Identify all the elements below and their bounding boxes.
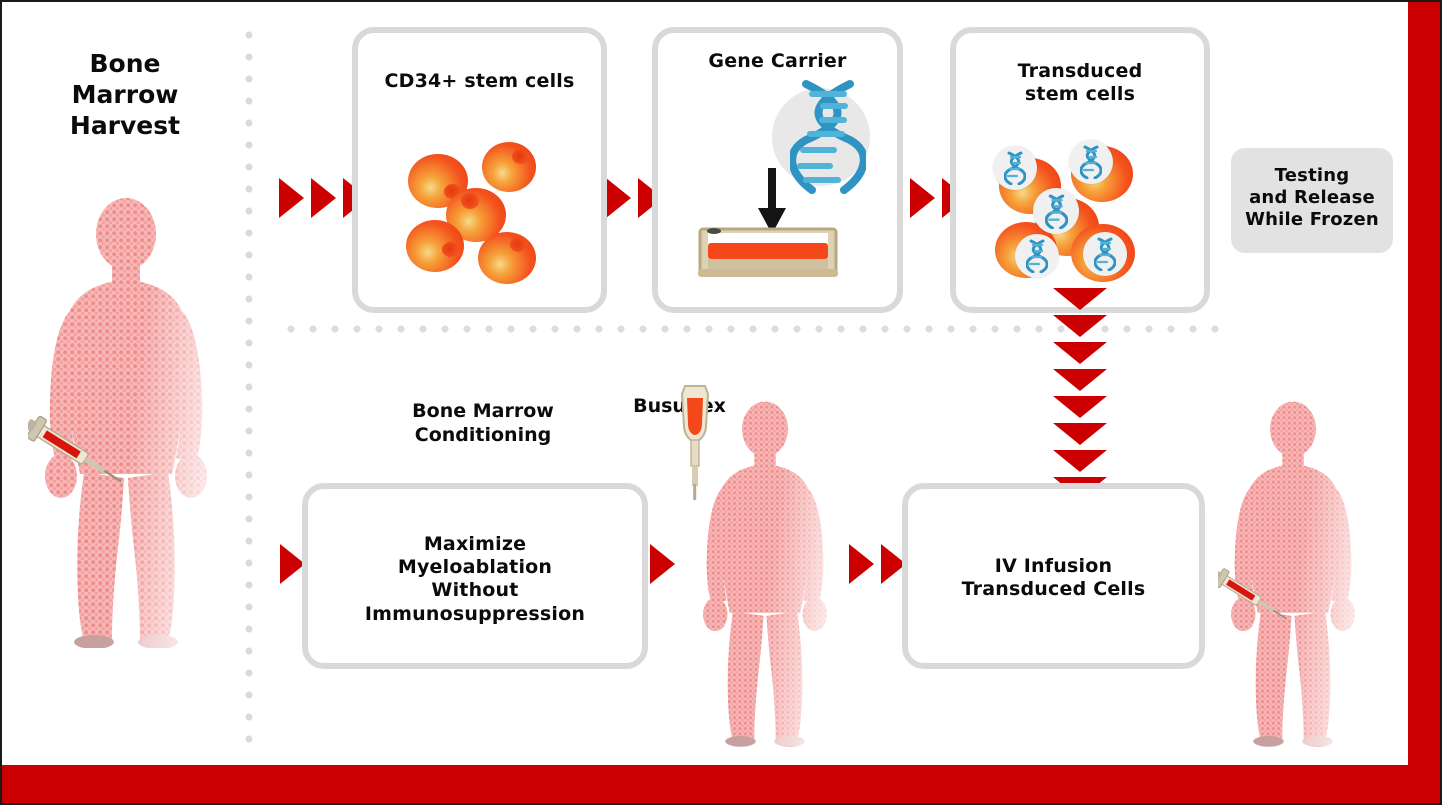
- chevron-down-icon: [1053, 369, 1107, 391]
- stem-cell-cluster-icon: [398, 140, 558, 285]
- dna-mini-icon: [1004, 151, 1026, 185]
- vertical-dotted-divider: [244, 30, 254, 752]
- chevron-down-icon: [1053, 342, 1107, 364]
- chevron-right-icon: [849, 544, 874, 584]
- chevron-down-icon: [1053, 396, 1107, 418]
- vertical-arrow-connector: [1053, 288, 1107, 504]
- chevron-right-icon: [311, 178, 336, 218]
- dna-helix-icon: [790, 78, 866, 200]
- chevron-right-icon: [910, 178, 935, 218]
- frame-accent-bottom: [2, 765, 1440, 803]
- chevron-right-icon: [279, 178, 304, 218]
- culture-dish-icon: [698, 227, 838, 285]
- chevron-right-icon: [650, 544, 675, 584]
- transduced-cell-cluster-icon: [993, 140, 1149, 288]
- frame-accent-right: [1408, 2, 1440, 803]
- box-testing-and-release-label: Testing and Release While Frozen: [1231, 165, 1393, 231]
- box-gene-carrier-label: Gene Carrier: [652, 50, 903, 73]
- patient-harvest-figure: [28, 196, 224, 648]
- dna-mini-icon: [1045, 194, 1068, 229]
- box-cd34-label: CD34+ stem cells: [352, 70, 607, 93]
- dna-mini-icon: [1094, 237, 1116, 271]
- chevron-down-icon: [1053, 288, 1107, 310]
- chevron-down-icon: [1053, 315, 1107, 337]
- label-bone-marrow-conditioning: Bone Marrow Conditioning: [383, 400, 583, 447]
- box-maximize-myeloablation-label: Maximize Myeloablation Without Immunosup…: [302, 533, 648, 626]
- patient-conditioned-figure: [690, 392, 840, 754]
- box-iv-infusion-label: IV Infusion Transduced Cells: [902, 555, 1205, 601]
- patient-infused-figure: [1218, 392, 1368, 754]
- page-title-bone-marrow-harvest: Bone Marrow Harvest: [20, 48, 230, 141]
- chevron-down-icon: [1053, 423, 1107, 445]
- dna-mini-icon: [1080, 145, 1102, 179]
- chevron-down-icon: [1053, 450, 1107, 472]
- diagram-canvas: Bone Marrow Harvest: [0, 0, 1442, 805]
- dna-mini-icon: [1026, 239, 1048, 273]
- chevron-right-icon: [606, 178, 631, 218]
- box-transduced-label: Transduced stem cells: [950, 60, 1210, 106]
